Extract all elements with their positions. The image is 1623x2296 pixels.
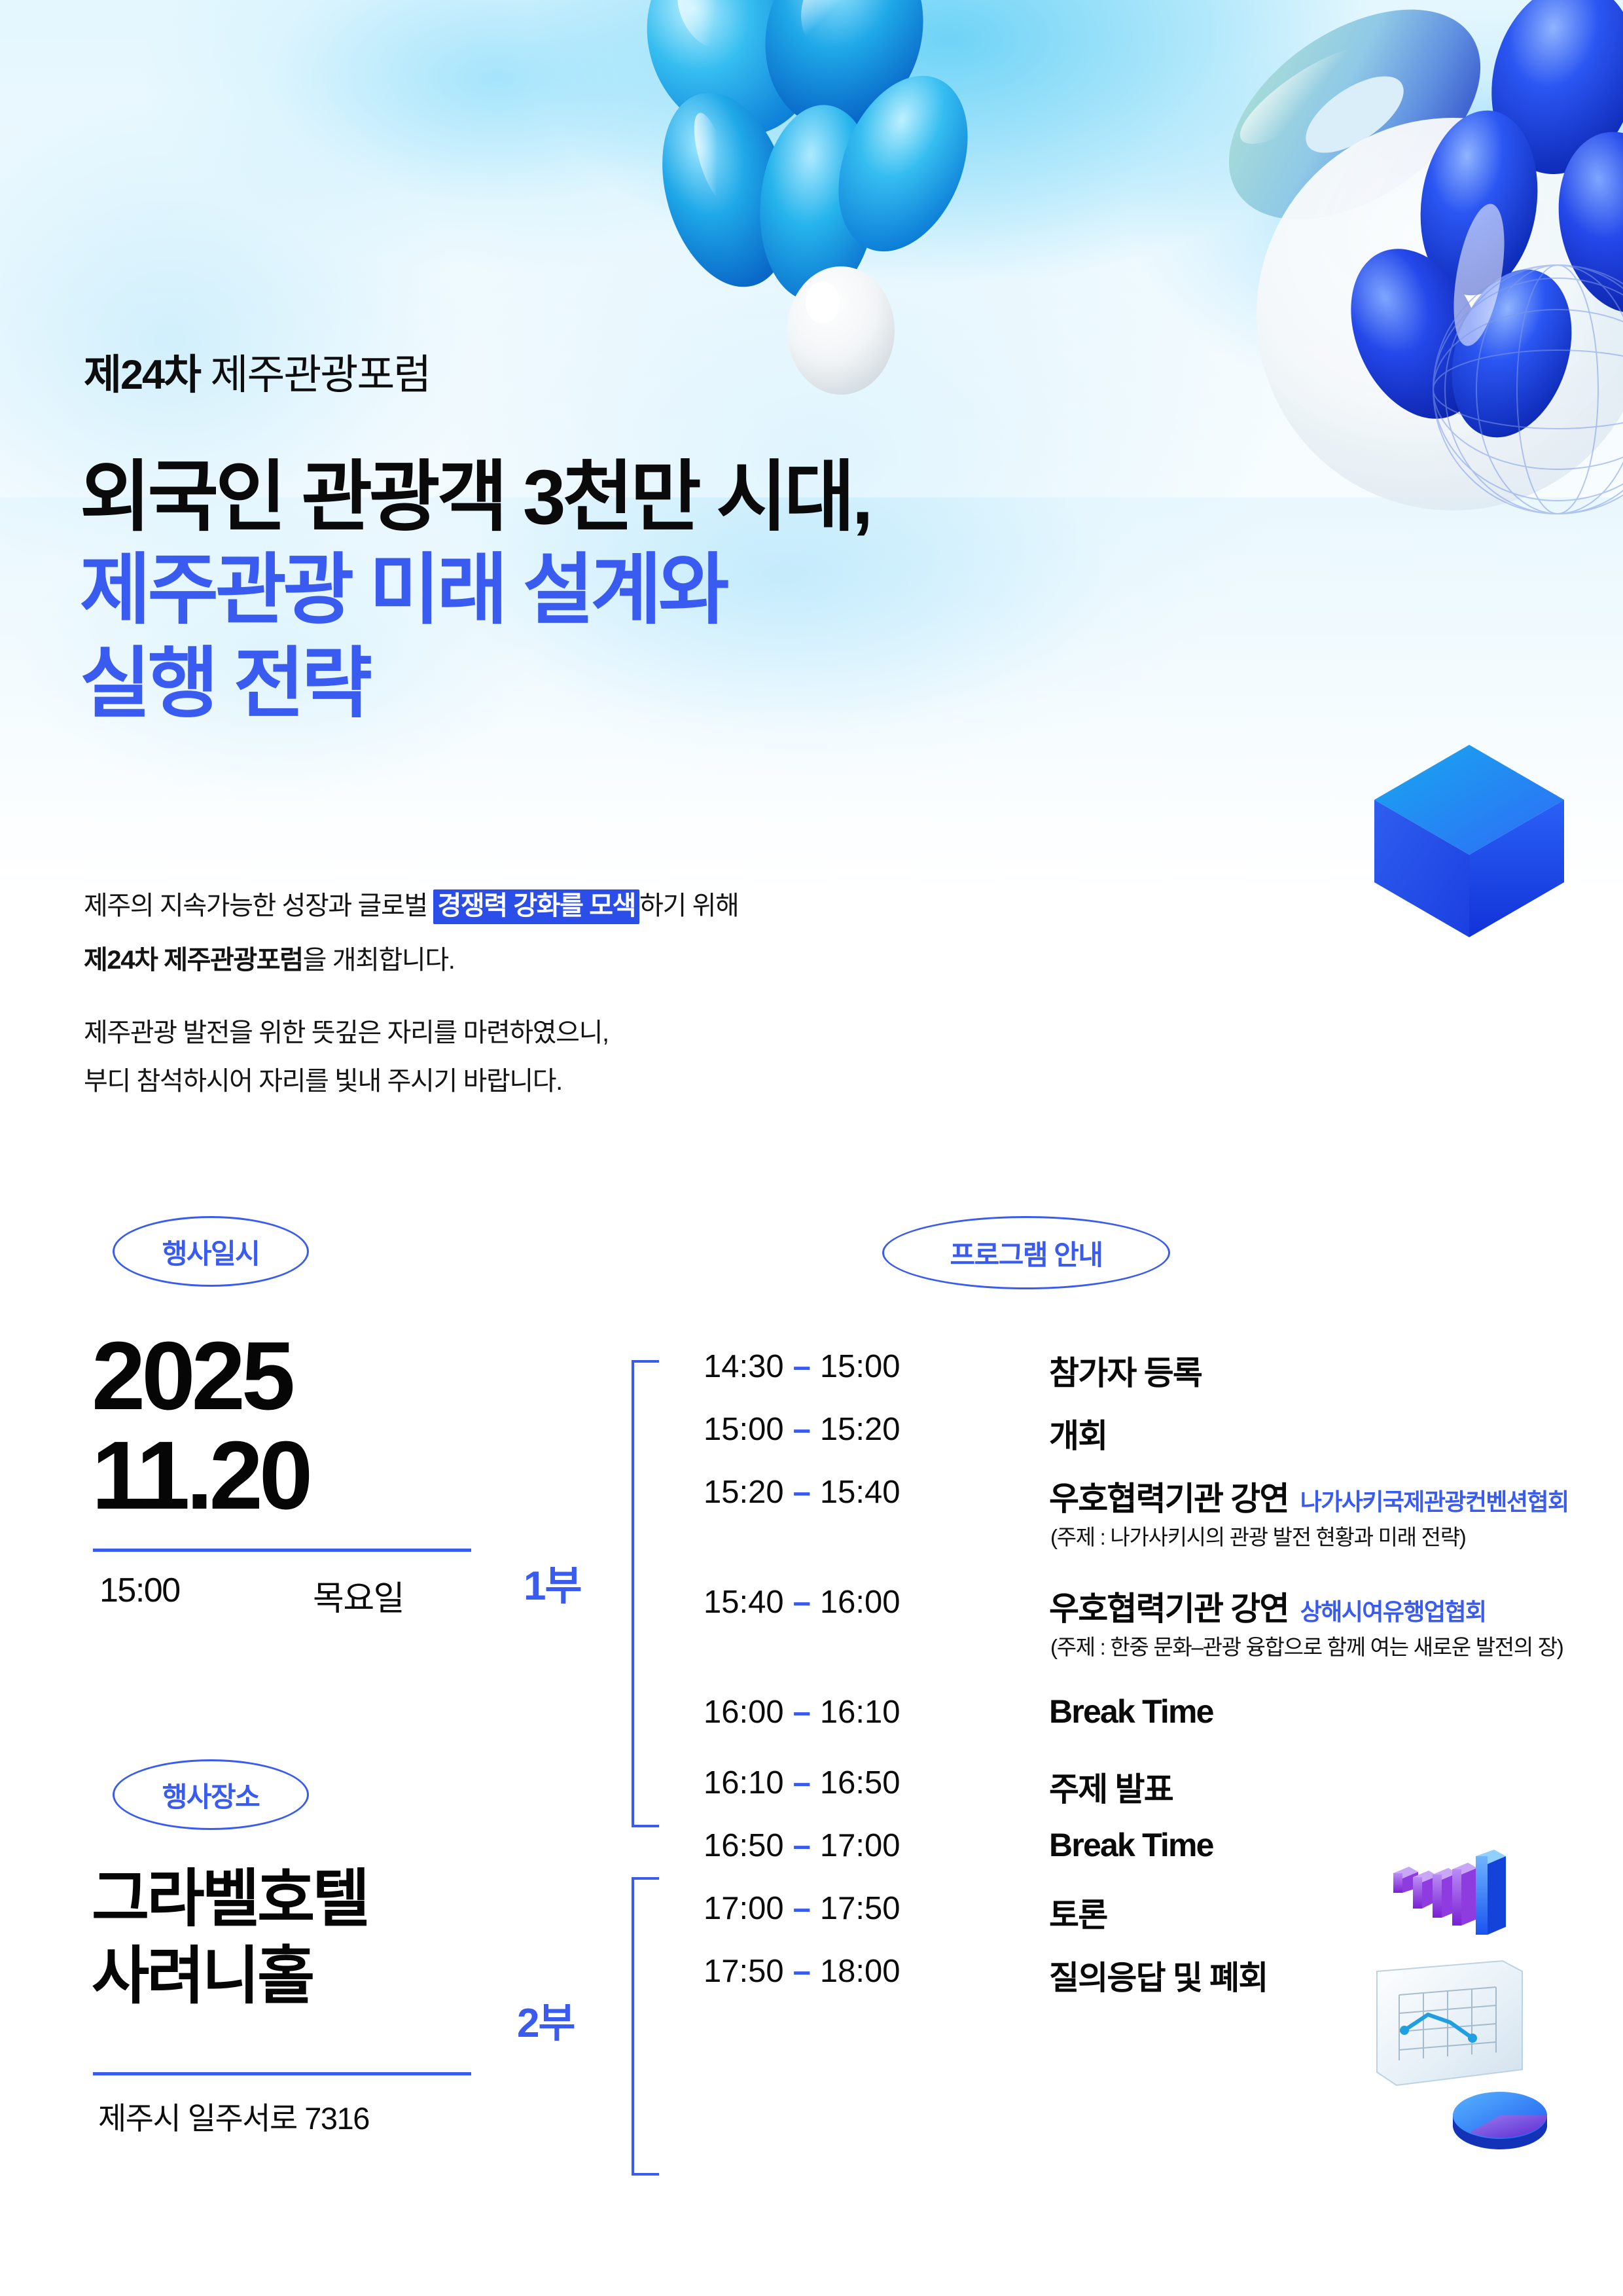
time-end: 17:00 [820, 1828, 901, 1863]
time-dash: – [784, 1765, 820, 1801]
time-end: 17:50 [820, 1891, 901, 1926]
schedule-time: 15:00–15:20 [704, 1411, 1044, 1448]
schedule-title: 주제 발표 [1049, 1763, 1173, 1810]
time-dash: – [784, 1585, 820, 1620]
schedule-title: Break Time [1049, 1693, 1213, 1731]
time-dash: – [784, 1412, 820, 1447]
lead-p1-before: 제주의 지속가능한 성장과 글로벌 [84, 891, 433, 920]
time-dash: – [784, 1349, 820, 1384]
kicker-strong: 제24차 [84, 352, 200, 398]
schedule-title: 우호협력기관 강연나가사키국제관광컨벤션협회 [1049, 1473, 1568, 1520]
schedule-title: 질의응답 및 폐회 [1049, 1952, 1268, 1999]
lead-paragraph-1: 제주의 지속가능한 성장과 글로벌 경쟁력 강화를 모색하기 위해 [84, 885, 738, 927]
headline-line-1: 외국인 관광객 3천만 시대, [80, 458, 870, 537]
lead-p1-after: 하기 위해 [639, 891, 738, 920]
time-dash: – [784, 1954, 820, 1989]
kicker-rest: 제주관광포럼 [200, 352, 430, 398]
schedule-time: 17:00–17:50 [704, 1890, 1044, 1927]
headline-line-2: 제주관광 미래 설계와 [80, 551, 870, 630]
headline-line-3: 실행 전략 [80, 645, 870, 723]
datetime-pill-label: 행사일시 [162, 1232, 260, 1272]
datetime-divider [93, 1549, 471, 1552]
schedule-time: 16:00–16:10 [704, 1694, 1044, 1731]
program-pill: 프로그램 안내 [882, 1216, 1170, 1289]
event-kicker: 제24차 제주관광포럼 [84, 342, 430, 401]
schedule-title-text: 우호협력기관 강연 [1049, 1480, 1289, 1517]
time-end: 15:00 [820, 1349, 901, 1384]
schedule-time: 15:20–15:40 [704, 1474, 1044, 1511]
schedule-title: Break Time [1049, 1826, 1213, 1864]
schedule-note: (주제 : 나가사키시의 관광 발전 현황과 미래 전략) [1050, 1520, 1465, 1551]
venue-name-line1: 그라벨호텔 [92, 1864, 368, 1935]
datetime-pill: 행사일시 [113, 1216, 309, 1287]
schedule-org: 나가사키국제관광컨벤션협회 [1300, 1488, 1569, 1515]
time-dash: – [784, 1891, 820, 1926]
time-end: 16:50 [820, 1765, 901, 1801]
venue-divider [93, 2072, 471, 2075]
schedule-time: 16:10–16:50 [704, 1765, 1044, 1801]
time-end: 15:20 [820, 1412, 901, 1447]
schedule-time: 14:30–15:00 [704, 1348, 1044, 1385]
part2-label: 2부 [517, 1990, 575, 2049]
schedule-title: 토론 [1049, 1889, 1107, 1936]
page-title: 외국인 관광객 3천만 시대, 제주관광 미래 설계와 실행 전략 [80, 458, 870, 738]
schedule-org: 상해시여유행업협회 [1300, 1598, 1486, 1625]
schedule-time: 15:40–16:00 [704, 1584, 1044, 1621]
schedule-note: (주제 : 한중 문화–관광 융합으로 함께 여는 새로운 발전의 장) [1050, 1630, 1563, 1661]
part1-bracket [632, 1360, 659, 1827]
event-weekday: 목요일 [313, 1571, 404, 1620]
time-start: 17:50 [704, 1954, 784, 1989]
venue-address: 제주시 일주서로 7316 [98, 2093, 369, 2138]
event-monthday: 11.20 [92, 1428, 309, 1523]
schedule-title: 개회 [1049, 1410, 1107, 1457]
event-time: 15:00 [99, 1571, 180, 1610]
time-start: 16:00 [704, 1695, 784, 1730]
part1-label: 1부 [524, 1552, 581, 1611]
time-start: 15:20 [704, 1475, 784, 1510]
time-end: 18:00 [820, 1954, 901, 1989]
time-end: 16:10 [820, 1695, 901, 1730]
time-start: 15:40 [704, 1585, 784, 1620]
schedule-title: 참가자 등록 [1049, 1347, 1202, 1394]
time-dash: – [784, 1828, 820, 1863]
time-dash: – [784, 1695, 820, 1730]
time-dash: – [784, 1475, 820, 1510]
time-start: 16:50 [704, 1828, 784, 1863]
event-year: 2025 [92, 1329, 291, 1424]
time-start: 14:30 [704, 1349, 784, 1384]
schedule-title-text: 우호협력기관 강연 [1049, 1590, 1289, 1627]
schedule-title: 우호협력기관 강연상해시여유행업협회 [1049, 1583, 1486, 1630]
lead-p2-bold: 제24차 제주관광포럼 [84, 946, 303, 975]
lead-p2-rest: 을 개최합니다. [303, 946, 455, 975]
time-start: 16:10 [704, 1765, 784, 1801]
venue-pill-label: 행사장소 [162, 1775, 260, 1815]
venue-pill: 행사장소 [113, 1759, 309, 1830]
schedule-time: 16:50–17:00 [704, 1827, 1044, 1864]
lead-highlight: 경쟁력 강화를 모색 [433, 889, 639, 924]
time-start: 15:00 [704, 1412, 784, 1447]
lead-text: 제주의 지속가능한 성장과 글로벌 경쟁력 강화를 모색하기 위해 제24차 제… [84, 885, 738, 1103]
lead-paragraph-2: 제24차 제주관광포럼을 개최합니다. [84, 939, 738, 982]
time-end: 16:00 [820, 1585, 901, 1620]
venue-name-line2: 사려니홀 [92, 1941, 312, 2012]
time-start: 17:00 [704, 1891, 784, 1926]
lead-paragraph-4: 부디 참석하시어 자리를 빛내 주시기 바랍니다. [84, 1060, 738, 1103]
part2-bracket [632, 1877, 659, 2176]
time-end: 15:40 [820, 1475, 901, 1510]
program-pill-label: 프로그램 안내 [950, 1233, 1102, 1273]
schedule-time: 17:50–18:00 [704, 1953, 1044, 1990]
lead-paragraph-3: 제주관광 발전을 위한 뜻깊은 자리를 마련하였으니, [84, 1012, 738, 1054]
